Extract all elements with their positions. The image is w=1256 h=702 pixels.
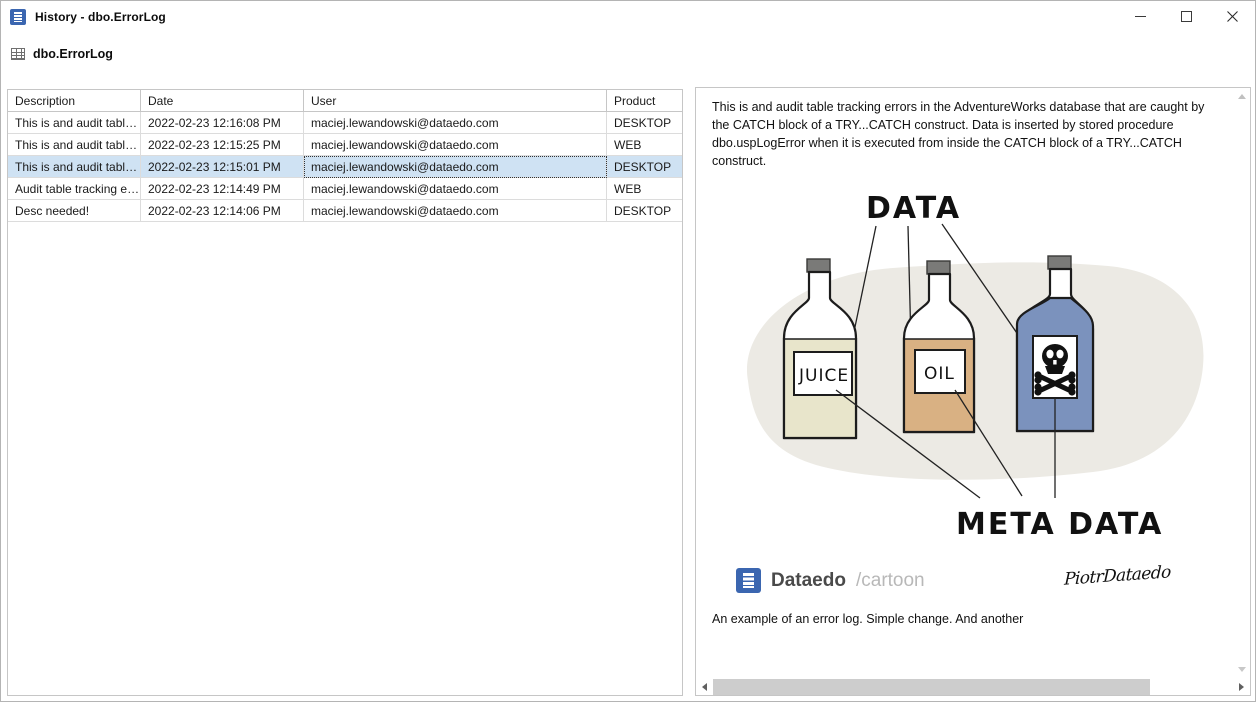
cell-product[interactable]: DESKTOP bbox=[607, 156, 684, 178]
dataedo-logo-icon bbox=[736, 568, 761, 593]
detail-note-text: An example of an error log. Simple chang… bbox=[712, 606, 1221, 628]
column-header-product[interactable]: Product bbox=[607, 90, 684, 112]
cell-description[interactable]: This is and audit table... bbox=[8, 112, 141, 134]
document-history-icon bbox=[10, 9, 26, 25]
column-header-description[interactable]: Description bbox=[8, 90, 141, 112]
chevron-up-icon bbox=[1238, 94, 1246, 99]
cartoon-illustration: DATA JUICE bbox=[708, 176, 1218, 566]
close-icon bbox=[1227, 11, 1238, 22]
maximize-icon bbox=[1181, 11, 1192, 22]
column-header-date[interactable]: Date bbox=[141, 90, 304, 112]
detail-panel: This is and audit table tracking errors … bbox=[695, 87, 1251, 696]
scroll-down-button[interactable] bbox=[1233, 661, 1250, 678]
cell-description[interactable]: Audit table tracking er... bbox=[8, 178, 141, 200]
table-row[interactable]: Desc needed! 2022-02-23 12:14:06 PM maci… bbox=[8, 200, 683, 222]
cell-product[interactable]: DESKTOP bbox=[607, 200, 684, 222]
detail-description-text: This is and audit table tracking errors … bbox=[712, 98, 1221, 170]
cell-description[interactable]: This is and audit table... bbox=[8, 156, 141, 178]
detail-vertical-scrollbar[interactable] bbox=[1232, 88, 1250, 678]
author-signature: PiotrDataedo bbox=[1064, 562, 1171, 590]
maximize-button[interactable] bbox=[1163, 2, 1209, 32]
hscroll-thumb[interactable] bbox=[713, 679, 1150, 695]
history-window: History - dbo.ErrorLog dbo.ErrorLog bbox=[0, 0, 1256, 702]
cartoon-label-metadata: META DATA bbox=[956, 507, 1163, 542]
minimize-icon bbox=[1135, 11, 1146, 22]
detail-content: This is and audit table tracking errors … bbox=[696, 88, 1233, 678]
table-row[interactable]: Audit table tracking er... 2022-02-23 12… bbox=[8, 178, 683, 200]
cartoon-label-data: DATA bbox=[866, 191, 961, 226]
hscroll-track[interactable] bbox=[713, 679, 1233, 695]
table-row-selected[interactable]: This is and audit table... 2022-02-23 12… bbox=[8, 156, 683, 178]
history-grid[interactable]: Description Date User Product This is an… bbox=[7, 89, 683, 696]
history-table: Description Date User Product This is an… bbox=[8, 90, 683, 222]
detail-horizontal-scrollbar[interactable] bbox=[696, 678, 1250, 695]
cartoon-svg: DATA JUICE bbox=[708, 176, 1218, 566]
chevron-down-icon bbox=[1238, 667, 1246, 672]
cell-date[interactable]: 2022-02-23 12:15:01 PM bbox=[141, 156, 304, 178]
object-name: dbo.ErrorLog bbox=[33, 47, 113, 61]
table-row[interactable]: This is and audit table... 2022-02-23 12… bbox=[8, 112, 683, 134]
scroll-right-button[interactable] bbox=[1233, 678, 1250, 695]
cell-user[interactable]: maciej.lewandowski@dataedo.com bbox=[304, 200, 607, 222]
scroll-left-button[interactable] bbox=[696, 678, 713, 695]
table-row[interactable]: This is and audit table... 2022-02-23 12… bbox=[8, 134, 683, 156]
cell-user[interactable]: maciej.lewandowski@dataedo.com bbox=[304, 156, 607, 178]
column-header-user[interactable]: User bbox=[304, 90, 607, 112]
minimize-button[interactable] bbox=[1117, 2, 1163, 32]
cell-date[interactable]: 2022-02-23 12:14:49 PM bbox=[141, 178, 304, 200]
bottle-label-juice: JUICE bbox=[798, 366, 849, 386]
cell-product[interactable]: DESKTOP bbox=[607, 112, 684, 134]
cell-description[interactable]: This is and audit table... bbox=[8, 134, 141, 156]
object-header: dbo.ErrorLog bbox=[11, 47, 113, 61]
cell-user[interactable]: maciej.lewandowski@dataedo.com bbox=[304, 178, 607, 200]
cell-description[interactable]: Desc needed! bbox=[8, 200, 141, 222]
close-button[interactable] bbox=[1209, 2, 1255, 32]
dataedo-brand: Dataedo /cartoon bbox=[736, 568, 925, 593]
table-header-row: Description Date User Product bbox=[8, 90, 683, 112]
cell-product[interactable]: WEB bbox=[607, 178, 684, 200]
cell-product[interactable]: WEB bbox=[607, 134, 684, 156]
bottle-label-oil: OIL bbox=[924, 364, 955, 384]
cell-date[interactable]: 2022-02-23 12:16:08 PM bbox=[141, 112, 304, 134]
cell-user[interactable]: maciej.lewandowski@dataedo.com bbox=[304, 112, 607, 134]
window-title: History - dbo.ErrorLog bbox=[35, 10, 166, 24]
table-grid-icon bbox=[11, 48, 25, 60]
chevron-left-icon bbox=[702, 683, 707, 691]
cell-date[interactable]: 2022-02-23 12:14:06 PM bbox=[141, 200, 304, 222]
brand-name: Dataedo bbox=[771, 570, 846, 592]
brand-suffix: /cartoon bbox=[856, 570, 925, 592]
cartoon-brand-row: Dataedo /cartoon PiotrDataedo bbox=[712, 562, 1221, 606]
cell-date[interactable]: 2022-02-23 12:15:25 PM bbox=[141, 134, 304, 156]
cell-user[interactable]: maciej.lewandowski@dataedo.com bbox=[304, 134, 607, 156]
window-titlebar: History - dbo.ErrorLog bbox=[1, 1, 1255, 32]
scroll-up-button[interactable] bbox=[1233, 88, 1250, 105]
chevron-right-icon bbox=[1239, 683, 1244, 691]
